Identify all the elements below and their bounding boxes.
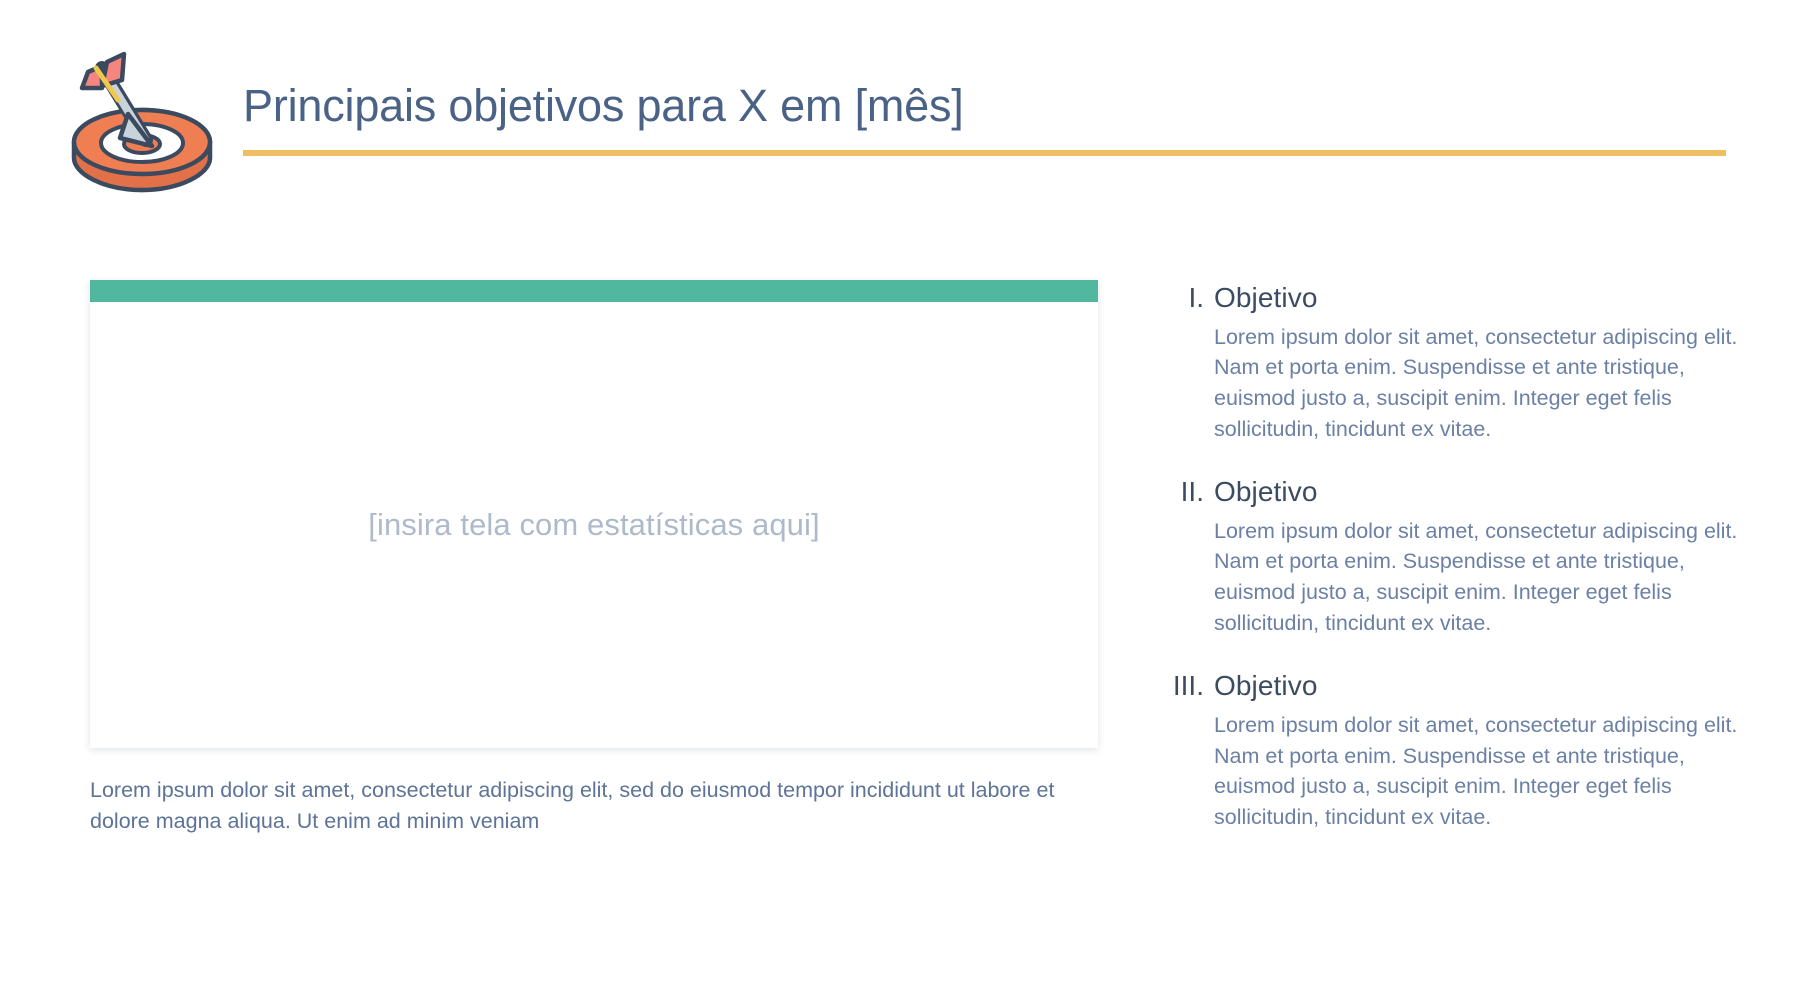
media-caption: Lorem ipsum dolor sit amet, consectetur … (90, 775, 1090, 836)
objective-title: Objetivo (1214, 668, 1768, 705)
slide-root: Principais objetivos para X em [mês] [in… (0, 0, 1820, 998)
objective-content: Objetivo Lorem ipsum dolor sit amet, con… (1214, 474, 1768, 638)
objective-body: Lorem ipsum dolor sit amet, consectetur … (1214, 710, 1754, 832)
objective-content: Objetivo Lorem ipsum dolor sit amet, con… (1214, 280, 1768, 444)
objective-item-3: III. Objetivo Lorem ipsum dolor sit amet… (1168, 668, 1768, 832)
objective-body: Lorem ipsum dolor sit amet, consectetur … (1214, 322, 1754, 444)
card-placeholder-text: [insira tela com estatísticas aqui] (368, 507, 819, 543)
objective-item-2: II. Objetivo Lorem ipsum dolor sit amet,… (1168, 474, 1768, 638)
card-accent-bar (90, 280, 1098, 302)
page-title-wrapper: Principais objetivos para X em [mês] (243, 80, 1726, 132)
objective-body: Lorem ipsum dolor sit amet, consectetur … (1214, 516, 1754, 638)
card-body[interactable]: [insira tela com estatísticas aqui] (90, 302, 1098, 748)
target-dart-icon (62, 44, 222, 200)
left-content-column: [insira tela com estatísticas aqui] Lore… (90, 280, 1098, 836)
objective-numeral: I. (1168, 280, 1214, 317)
objective-item-1: I. Objetivo Lorem ipsum dolor sit amet, … (1168, 280, 1768, 444)
objective-numeral: II. (1168, 474, 1214, 511)
objective-title: Objetivo (1214, 474, 1768, 511)
objective-title: Objetivo (1214, 280, 1768, 317)
statistics-screenshot-card[interactable]: [insira tela com estatísticas aqui] (90, 280, 1098, 748)
title-underline-rule (243, 150, 1726, 156)
objectives-list: I. Objetivo Lorem ipsum dolor sit amet, … (1168, 280, 1768, 832)
objective-content: Objetivo Lorem ipsum dolor sit amet, con… (1214, 668, 1768, 832)
slide-header: Principais objetivos para X em [mês] (0, 0, 1820, 210)
page-title: Principais objetivos para X em [mês] (243, 80, 1726, 132)
objective-numeral: III. (1168, 668, 1214, 705)
